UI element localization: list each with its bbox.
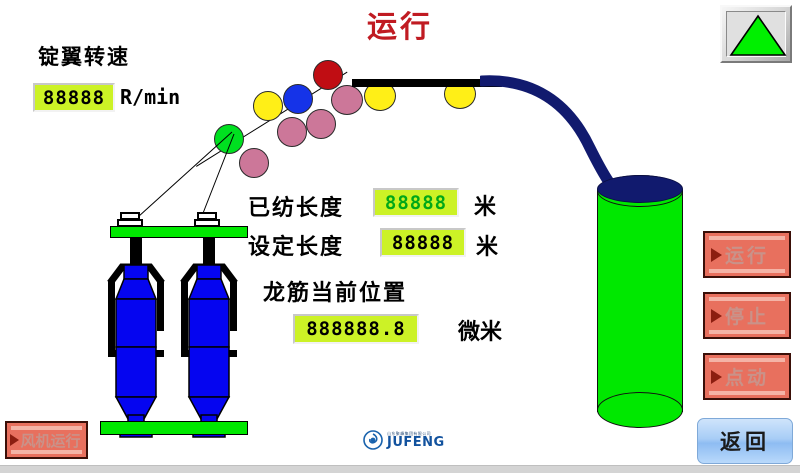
button-highlight-top (709, 297, 785, 301)
jog-button-label: 点动 (725, 363, 769, 390)
bobbin-ball-pink-4 (331, 85, 363, 115)
button-highlight-bottom (709, 391, 785, 395)
button-highlight-top (11, 426, 82, 430)
scroll-up-button[interactable] (720, 5, 792, 63)
spun-length-unit: 米 (474, 189, 496, 221)
machine-base-rail (100, 421, 248, 435)
page-title: 运行 (0, 2, 800, 46)
sliver-can-bottom (597, 392, 683, 428)
back-button-label: 返回 (720, 426, 770, 456)
button-highlight-top (709, 236, 785, 240)
bobbin-ball-red (313, 60, 343, 90)
sliver-can-body (597, 190, 683, 412)
flyer-speed-unit: R/min (120, 85, 180, 109)
run-button-label: 运行 (725, 241, 769, 268)
logo-wordmark: JUFENG (387, 436, 445, 449)
button-face (726, 11, 786, 57)
green-triangle-up-icon (727, 13, 789, 59)
rib-position-unit: 微米 (458, 314, 502, 346)
swirl-drop-icon (363, 430, 383, 450)
fan-run-button-label: 风机运行 (12, 430, 80, 451)
arrow-right-icon (711, 248, 722, 262)
back-button[interactable]: 返回 (697, 418, 793, 464)
stop-button[interactable]: 停止 (703, 292, 791, 339)
flyer-speed-label: 锭翼转速 (38, 41, 130, 71)
fan-run-button[interactable]: 风机运行 (5, 421, 88, 459)
button-highlight-bottom (11, 450, 82, 454)
yarn-guide-lines (110, 130, 340, 240)
spindle-collar-left (117, 219, 143, 227)
sliver-can-lid (597, 175, 683, 203)
flyer-speed-value[interactable]: 88888 (33, 83, 115, 112)
run-button[interactable]: 运行 (703, 231, 791, 278)
arrow-right-icon (711, 309, 722, 323)
spindle-collar-right (194, 219, 220, 227)
button-highlight-bottom (709, 269, 785, 273)
bottom-status-strip (0, 465, 800, 473)
stop-button-label: 停止 (725, 302, 769, 329)
arrow-right-icon (711, 370, 722, 384)
set-length-value[interactable]: 88888 (380, 228, 466, 257)
jog-button[interactable]: 点动 (703, 353, 791, 400)
spun-length-value[interactable]: 88888 (373, 188, 459, 217)
set-length-unit: 米 (476, 229, 498, 261)
bobbin-ball-yellow-1 (253, 91, 283, 121)
button-highlight-top (709, 358, 785, 362)
bobbin-ball-blue (283, 84, 313, 114)
arrow-right-icon (10, 434, 19, 446)
button-highlight-bottom (709, 330, 785, 334)
hmi-screen: 运行 锭翼转速 88888 R/min 已纺长度 88888 米 设定长度 88… (0, 0, 800, 473)
company-logo: 山东聚峰集团有限公司 JUFENG (363, 430, 445, 450)
